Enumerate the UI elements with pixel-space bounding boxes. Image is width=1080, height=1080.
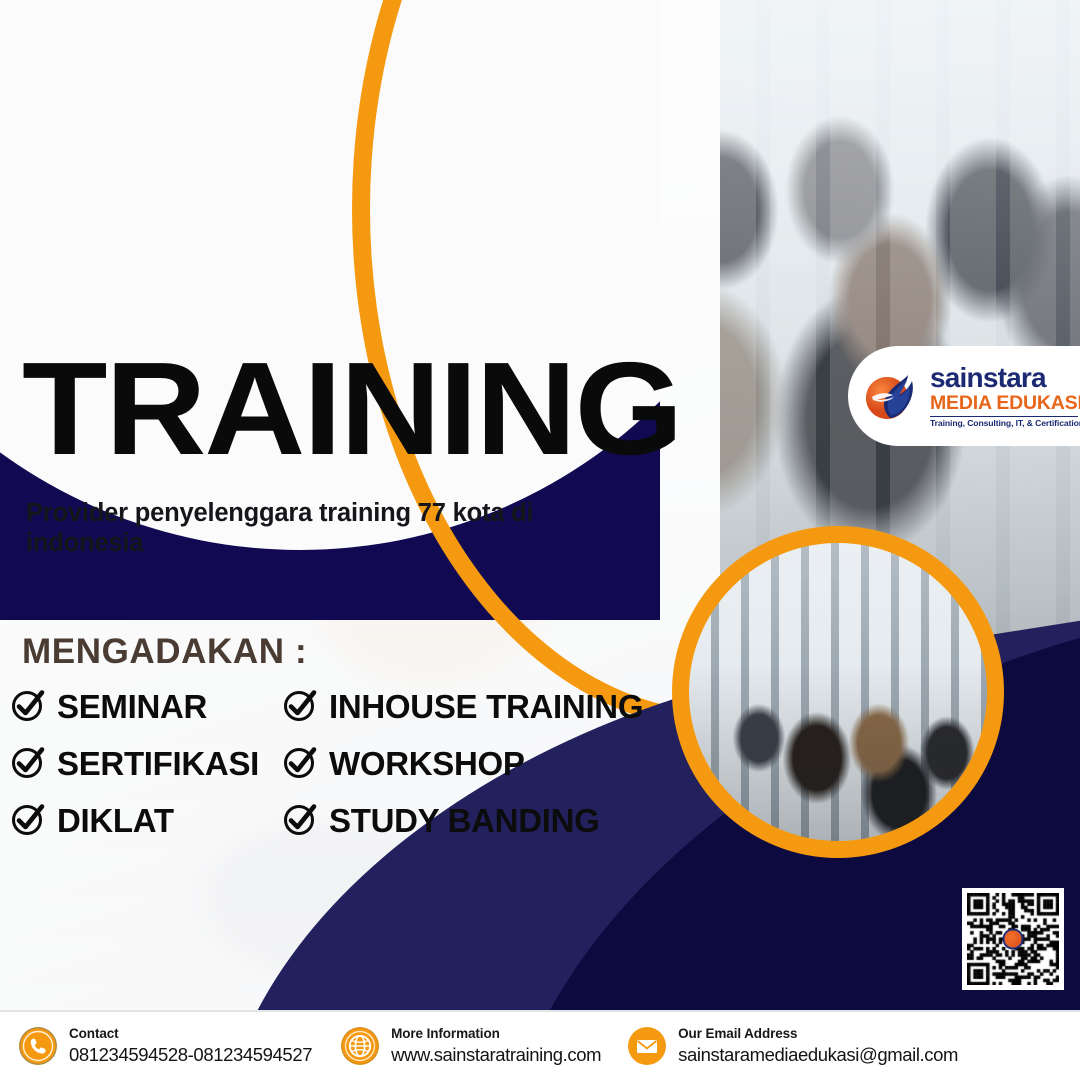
subtitle: Provider penyelenggara training 77 kota … — [26, 498, 586, 558]
check-circle-icon — [12, 748, 46, 782]
service-row: SEMINAR INHOUSE TRAINING — [12, 688, 692, 745]
page-title: TRAINING — [22, 352, 681, 466]
check-circle-icon — [12, 691, 46, 725]
footer-email-text: Our Email Address sainstaramediaedukasi@… — [678, 1025, 958, 1066]
training-promo-poster: TRAINING Provider penyelenggara training… — [0, 0, 1080, 1080]
service-item-workshop: WORKSHOP — [284, 745, 525, 783]
services-list: SEMINAR INHOUSE TRAINING — [12, 688, 692, 859]
footer-contact-value: 081234594528-081234594527 — [69, 1044, 312, 1066]
logo-name: sainstara — [930, 364, 1080, 392]
check-circle-icon — [284, 805, 318, 839]
qr-code[interactable] — [962, 888, 1064, 990]
footer-contact-text: Contact 081234594528-081234594527 — [69, 1025, 312, 1066]
footer-website[interactable]: More Information www.sainstaratraining.c… — [340, 1025, 601, 1066]
footer-contact[interactable]: Contact 081234594528-081234594527 — [18, 1025, 312, 1066]
classroom-circle-photo — [672, 526, 1004, 858]
footer-email[interactable]: Our Email Address sainstaramediaedukasi@… — [627, 1025, 958, 1066]
service-label: SERTIFIKASI — [57, 745, 259, 783]
footer-website-text: More Information www.sainstaratraining.c… — [391, 1025, 601, 1066]
check-circle-icon — [284, 748, 318, 782]
sainstara-flame-icon — [860, 364, 924, 428]
logo-wordmark: sainstara MEDIA EDUKASI Training, Consul… — [930, 364, 1080, 428]
globe-icon — [340, 1026, 380, 1066]
logo-divider — [930, 416, 1078, 417]
check-circle-icon — [12, 805, 46, 839]
footer-website-label: More Information — [391, 1026, 500, 1041]
footer-website-value: www.sainstaratraining.com — [391, 1044, 601, 1066]
service-label: SEMINAR — [57, 688, 207, 726]
service-label: INHOUSE TRAINING — [329, 688, 643, 726]
contact-footer: Contact 081234594528-081234594527 More — [0, 1012, 1080, 1080]
logo-tagline: Training, Consulting, IT, & Certificatio… — [930, 419, 1080, 428]
service-label: DIKLAT — [57, 802, 174, 840]
footer-email-value: sainstaramediaedukasi@gmail.com — [678, 1044, 958, 1066]
service-item-seminar: SEMINAR — [12, 688, 284, 726]
service-row: DIKLAT STUDY BANDING — [12, 802, 692, 859]
service-item-inhouse-training: INHOUSE TRAINING — [284, 688, 643, 726]
service-item-study-banding: STUDY BANDING — [284, 802, 600, 840]
envelope-icon — [627, 1026, 667, 1066]
section-heading: MENGADAKAN : — [22, 632, 307, 672]
service-label: STUDY BANDING — [329, 802, 600, 840]
check-circle-icon — [284, 691, 318, 725]
service-item-sertifikasi: SERTIFIKASI — [12, 745, 284, 783]
footer-contact-label: Contact — [69, 1026, 119, 1041]
footer-email-label: Our Email Address — [678, 1026, 797, 1041]
service-label: WORKSHOP — [329, 745, 525, 783]
brand-logo-badge: sainstara MEDIA EDUKASI Training, Consul… — [848, 346, 1080, 446]
sainstara-mark-icon — [1005, 931, 1022, 948]
logo-subtitle: MEDIA EDUKASI — [930, 394, 1080, 414]
service-row: SERTIFIKASI WORKSHOP — [12, 745, 692, 802]
phone-icon — [18, 1026, 58, 1066]
service-item-diklat: DIKLAT — [12, 802, 284, 840]
